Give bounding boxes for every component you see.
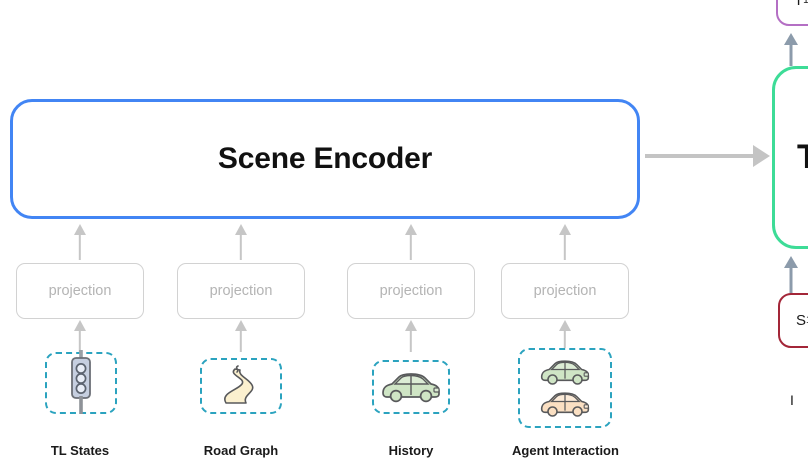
- arrow-state-to-transformer: [783, 256, 799, 294]
- projection-label: projection: [534, 283, 597, 299]
- projection-label: projection: [210, 283, 273, 299]
- arrow-projection-to-encoder-4: [558, 224, 572, 260]
- tokens-output-box: T1: [776, 0, 808, 26]
- transformer-label: T: [797, 138, 808, 177]
- state-input-box: S1: [778, 293, 808, 348]
- column-caption-history: History: [347, 443, 475, 458]
- diagram-canvas: Scene Encoder projection TL States proje…: [0, 0, 808, 455]
- projection-box-history: projection: [347, 263, 475, 319]
- arrow-token-to-projection-1: [73, 320, 87, 352]
- token-box-agent-interaction: [518, 348, 612, 428]
- arrow-transformer-to-tokens: [783, 33, 799, 66]
- projection-box-agent-interaction: projection: [501, 263, 629, 319]
- column-caption-road-graph: Road Graph: [177, 443, 305, 458]
- transformer-block: T: [772, 66, 808, 249]
- column-caption-traffic-light: TL States: [16, 443, 144, 458]
- arrow-projection-to-encoder-3: [404, 224, 418, 260]
- scene-encoder-to-transformer-arrow: [645, 145, 770, 167]
- state-input-label: S: [796, 312, 806, 329]
- scene-encoder-block: Scene Encoder: [10, 99, 640, 219]
- token-box-history: [372, 360, 450, 414]
- arrow-token-to-projection-2: [234, 320, 248, 352]
- car-icon: [379, 369, 443, 405]
- projection-box-traffic-light: projection: [16, 263, 144, 319]
- arrow-token-to-projection-3: [404, 320, 418, 352]
- tokens-output-subscript: 1: [803, 0, 808, 6]
- projection-label: projection: [380, 283, 443, 299]
- two-cars-icon-top: [537, 357, 593, 387]
- arrow-token-to-projection-4: [558, 320, 572, 348]
- projection-label: projection: [49, 283, 112, 299]
- column-caption-agent-interaction: Agent Interaction: [498, 443, 633, 458]
- two-cars-icon-bottom: [537, 389, 593, 419]
- arrow-projection-to-encoder-1: [73, 224, 87, 260]
- side-caption-text: I: [790, 392, 794, 408]
- token-box-road-graph: [200, 358, 282, 414]
- projection-box-road-graph: projection: [177, 263, 305, 319]
- token-box-traffic-light: [45, 352, 117, 414]
- winding-road-icon: [216, 363, 266, 409]
- traffic-light-icon: [61, 350, 101, 416]
- arrow-projection-to-encoder-2: [234, 224, 248, 260]
- tokens-output-label: T: [794, 0, 803, 9]
- scene-encoder-label: Scene Encoder: [218, 142, 432, 176]
